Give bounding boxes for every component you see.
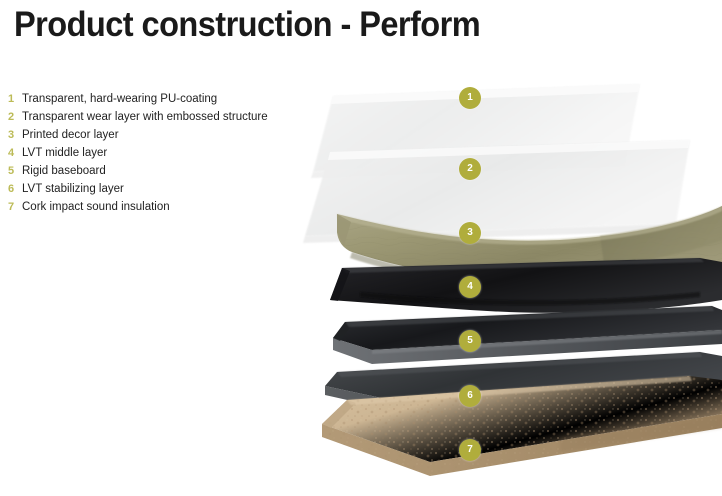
layer-badge-6[interactable]: 6: [459, 385, 481, 407]
legend-item-5: 5 Rigid baseboard: [0, 162, 330, 180]
legend-label-3: Printed decor layer: [22, 126, 119, 144]
legend-label-2: Transparent wear layer with embossed str…: [22, 108, 268, 126]
legend-item-1: 1 Transparent, hard-wearing PU-coating: [0, 90, 330, 108]
legend-item-4: 4 LVT middle layer: [0, 144, 330, 162]
legend-number-7: 7: [0, 198, 22, 216]
legend-label-4: LVT middle layer: [22, 144, 107, 162]
legend-number-5: 5: [0, 162, 22, 180]
legend-number-4: 4: [0, 144, 22, 162]
legend-item-2: 2 Transparent wear layer with embossed s…: [0, 108, 330, 126]
layer-stack-svg: [0, 0, 722, 496]
legend-label-6: LVT stabilizing layer: [22, 180, 124, 198]
layer-badge-2[interactable]: 2: [459, 158, 481, 180]
legend-list: 1 Transparent, hard-wearing PU-coating 2…: [0, 90, 330, 216]
layer-badge-1[interactable]: 1: [459, 87, 481, 109]
legend-item-3: 3 Printed decor layer: [0, 126, 330, 144]
layer-badge-4[interactable]: 4: [459, 276, 481, 298]
legend-number-2: 2: [0, 108, 22, 126]
legend-item-6: 6 LVT stabilizing layer: [0, 180, 330, 198]
legend-number-3: 3: [0, 126, 22, 144]
layer-badge-5[interactable]: 5: [459, 330, 481, 352]
legend-number-1: 1: [0, 90, 22, 108]
layer-badge-3[interactable]: 3: [459, 222, 481, 244]
legend-number-6: 6: [0, 180, 22, 198]
legend-label-5: Rigid baseboard: [22, 162, 106, 180]
product-construction-diagram: [0, 0, 722, 496]
legend-item-7: 7 Cork impact sound insulation: [0, 198, 330, 216]
layer-badge-7[interactable]: 7: [459, 439, 481, 461]
legend-label-7: Cork impact sound insulation: [22, 198, 170, 216]
legend-label-1: Transparent, hard-wearing PU-coating: [22, 90, 217, 108]
